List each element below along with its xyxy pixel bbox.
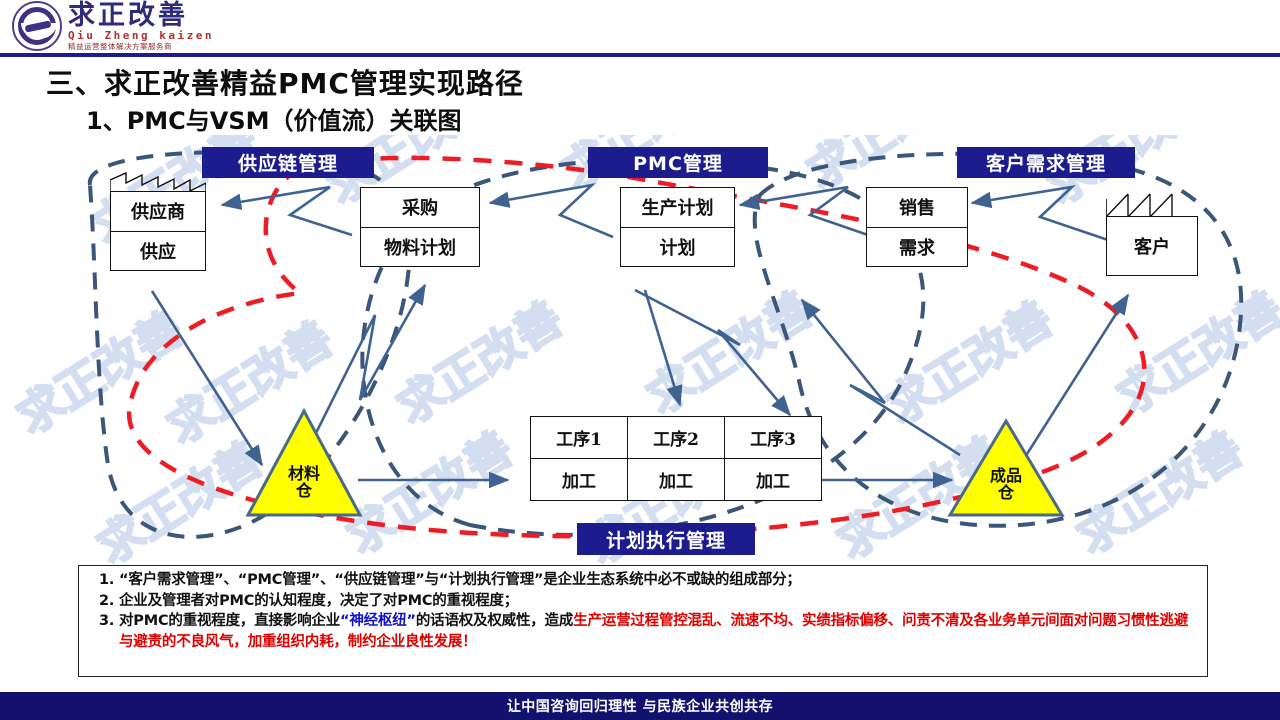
circular-swoosh-logo-icon [12,1,62,51]
banner-customer-demand-label: 客户需求管理 [986,149,1106,176]
box-supplier-top-label: 供应商 [111,192,205,232]
box-sales-top-label: 销售 [867,188,967,228]
inventory-finished-goods-warehouse[interactable]: 成品 仓 [947,418,1065,520]
banner-customer-demand[interactable]: 客户需求管理 [957,147,1135,178]
banner-supply-chain[interactable]: 供应链管理 [202,147,374,178]
logo-tagline: 精益运营整体解决方案服务商 [68,43,214,51]
box-sales-bottom-label: 需求 [867,228,967,267]
banner-supply-chain-label: 供应链管理 [238,149,338,176]
bullet-3-segment-plain-1: 对PMC的重视程度，直接影响企业 [119,613,340,629]
inventory-material-label: 材料 仓 [245,466,363,500]
bullet-3-text: 对PMC的重视程度，直接影响企业“神经枢纽”的话语权及权威性，造成生产运营过程管… [119,611,1201,652]
bullet-item-3: 3. 对PMC的重视程度，直接影响企业“神经枢纽”的话语权及权威性，造成生产运营… [85,611,1201,652]
inventory-finished-label: 成品 仓 [947,468,1065,502]
inventory-material-warehouse[interactable]: 材料 仓 [245,408,363,520]
bullet-2-number: 2. [85,591,119,612]
footer-slogan: 让中国咨询回归理性 与民族企业共创共存 [507,696,773,716]
factory-sawtooth-roof-icon-customer [1106,190,1198,218]
factory-sawtooth-roof-icon-supplier [110,171,206,193]
process-table-body-row: 加工 加工 加工 [531,459,821,500]
box-customer-label: 客户 [1107,217,1197,275]
bullet-3-number: 3. [85,611,119,652]
diagram-nodes: 供应链管理 PMC管理 客户需求管理 计划执行管理 供应商 供应 采购 物料计划… [0,135,1280,565]
bullet-3-segment-plain-2: 的话语权及权威性，造成 [416,613,573,629]
conclusion-panel: 1. “客户需求管理”、“PMC管理”、“供应链管理”与“计划执行管理”是企业生… [78,565,1208,677]
inventory-finished-line2: 仓 [998,483,1014,502]
bullet-item-2: 2. 企业及管理者对PMC的认知程度，决定了对PMC的重视程度； [85,591,1201,612]
banner-pmc[interactable]: PMC管理 [588,147,768,178]
bullet-3-segment-blue: “神经枢纽” [340,613,416,629]
box-production-plan-top-label: 生产计划 [621,188,734,228]
bullet-item-1: 1. “客户需求管理”、“PMC管理”、“供应链管理”与“计划执行管理”是企业生… [85,570,1201,591]
box-purchasing-top-label: 采购 [361,188,479,228]
process-3-header: 工序3 [725,417,821,458]
banner-plan-execution[interactable]: 计划执行管理 [577,523,755,555]
process-table-header-row: 工序1 工序2 工序3 [531,417,821,459]
logo-band: 求正改善 Qiu Zheng kaizen 精益运营整体解决方案服务商 [0,0,1280,55]
bullet-1-number: 1. [85,570,119,591]
bullet-1-text: “客户需求管理”、“PMC管理”、“供应链管理”与“计划执行管理”是企业生态系统… [119,570,1201,591]
process-2-header: 工序2 [628,417,725,458]
logo-company-name-cn: 求正改善 [68,2,214,29]
box-production-plan[interactable]: 生产计划 计划 [620,187,735,267]
logo-text-block: 求正改善 Qiu Zheng kaizen 精益运营整体解决方案服务商 [68,2,214,51]
page-title: 三、求正改善精益PMC管理实现路径 [46,62,524,102]
header-divider [0,53,1280,57]
box-production-plan-bottom-label: 计划 [621,228,734,267]
box-supplier[interactable]: 供应商 供应 [110,191,206,271]
process-1-header: 工序1 [531,417,628,458]
bullet-2-text: 企业及管理者对PMC的认知程度，决定了对PMC的重视程度； [119,591,1201,612]
process-2-activity: 加工 [628,459,725,500]
box-supplier-bottom-label: 供应 [111,232,205,271]
process-table[interactable]: 工序1 工序2 工序3 加工 加工 加工 [530,416,822,501]
process-1-activity: 加工 [531,459,628,500]
box-purchasing-bottom-label: 物料计划 [361,228,479,267]
box-sales[interactable]: 销售 需求 [866,187,968,267]
box-purchasing[interactable]: 采购 物料计划 [360,187,480,267]
banner-pmc-label: PMC管理 [633,149,723,176]
vsm-diagram: 求正改善 [0,135,1280,565]
box-customer[interactable]: 客户 [1106,216,1198,276]
process-3-activity: 加工 [725,459,821,500]
banner-plan-execution-label: 计划执行管理 [606,526,726,553]
page-subtitle: 1、PMC与VSM（价值流）关联图 [86,101,462,136]
inventory-material-line2: 仓 [296,481,312,500]
brand-logo: 求正改善 Qiu Zheng kaizen 精益运营整体解决方案服务商 [12,1,214,51]
footer-bar: 让中国咨询回归理性 与民族企业共创共存 [0,692,1280,720]
logo-company-name-pinyin: Qiu Zheng kaizen [68,30,214,41]
